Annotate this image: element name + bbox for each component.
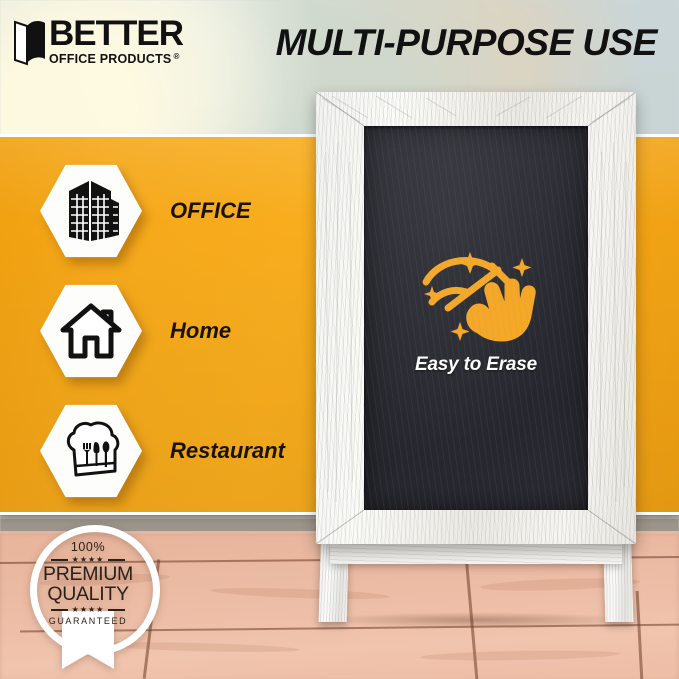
feature-item-home: Home: [40, 283, 231, 379]
hexagon-badge: [40, 403, 142, 499]
wiping-hand-sparkle-icon: [406, 236, 546, 348]
hexagon-badge: [40, 283, 142, 379]
brand-logo: BETTER OFFICE PRODUCTS ®: [12, 16, 183, 66]
plank-seam: [636, 591, 644, 679]
feature-label-restaurant: Restaurant: [170, 438, 285, 464]
easy-to-erase-callout: Easy to Erase: [364, 236, 588, 376]
office-building-icon: [61, 179, 121, 243]
open-book-icon: [12, 18, 48, 66]
product-marketing-image: BETTER OFFICE PRODUCTS ® MULTI-PURPOSE U…: [0, 0, 679, 679]
brand-tagline: OFFICE PRODUCTS ®: [49, 53, 183, 66]
chalkboard-surface: Easy to Erase: [364, 126, 588, 510]
page-title: MULTI-PURPOSE USE: [276, 22, 657, 64]
premium-quality-seal-icon: 100% ★★★★ PREMIUM QUALITY ★★★★ GUARANTEE…: [24, 525, 152, 671]
feature-label-home: Home: [170, 318, 231, 344]
house-icon: [59, 302, 123, 360]
feature-item-office: OFFICE: [40, 163, 251, 259]
hexagon-badge: [40, 163, 142, 259]
badge-divider-bottom: ★★★★: [51, 606, 125, 614]
chalkboard-easel: Easy to Erase: [316, 92, 636, 627]
feature-item-restaurant: Restaurant: [40, 403, 285, 499]
badge-percent: 100%: [71, 540, 105, 554]
wood-grain: [420, 649, 620, 661]
erase-label: Easy to Erase: [415, 354, 537, 376]
registered-mark: ®: [173, 53, 179, 61]
badge-stars: ★★★★: [72, 606, 105, 614]
badge-line2: QUALITY: [47, 585, 128, 605]
brand-tagline-text: OFFICE PRODUCTS: [49, 53, 171, 66]
feature-label-office: OFFICE: [170, 198, 251, 224]
chef-hat-utensils-icon: [60, 419, 122, 483]
badge-footer: GUARANTEED: [49, 616, 128, 626]
brand-name: BETTER: [49, 16, 183, 51]
rustic-wood-frame: Easy to Erase: [316, 92, 636, 544]
badge-content: 100% ★★★★ PREMIUM QUALITY ★★★★ GUARANTEE…: [37, 532, 139, 634]
